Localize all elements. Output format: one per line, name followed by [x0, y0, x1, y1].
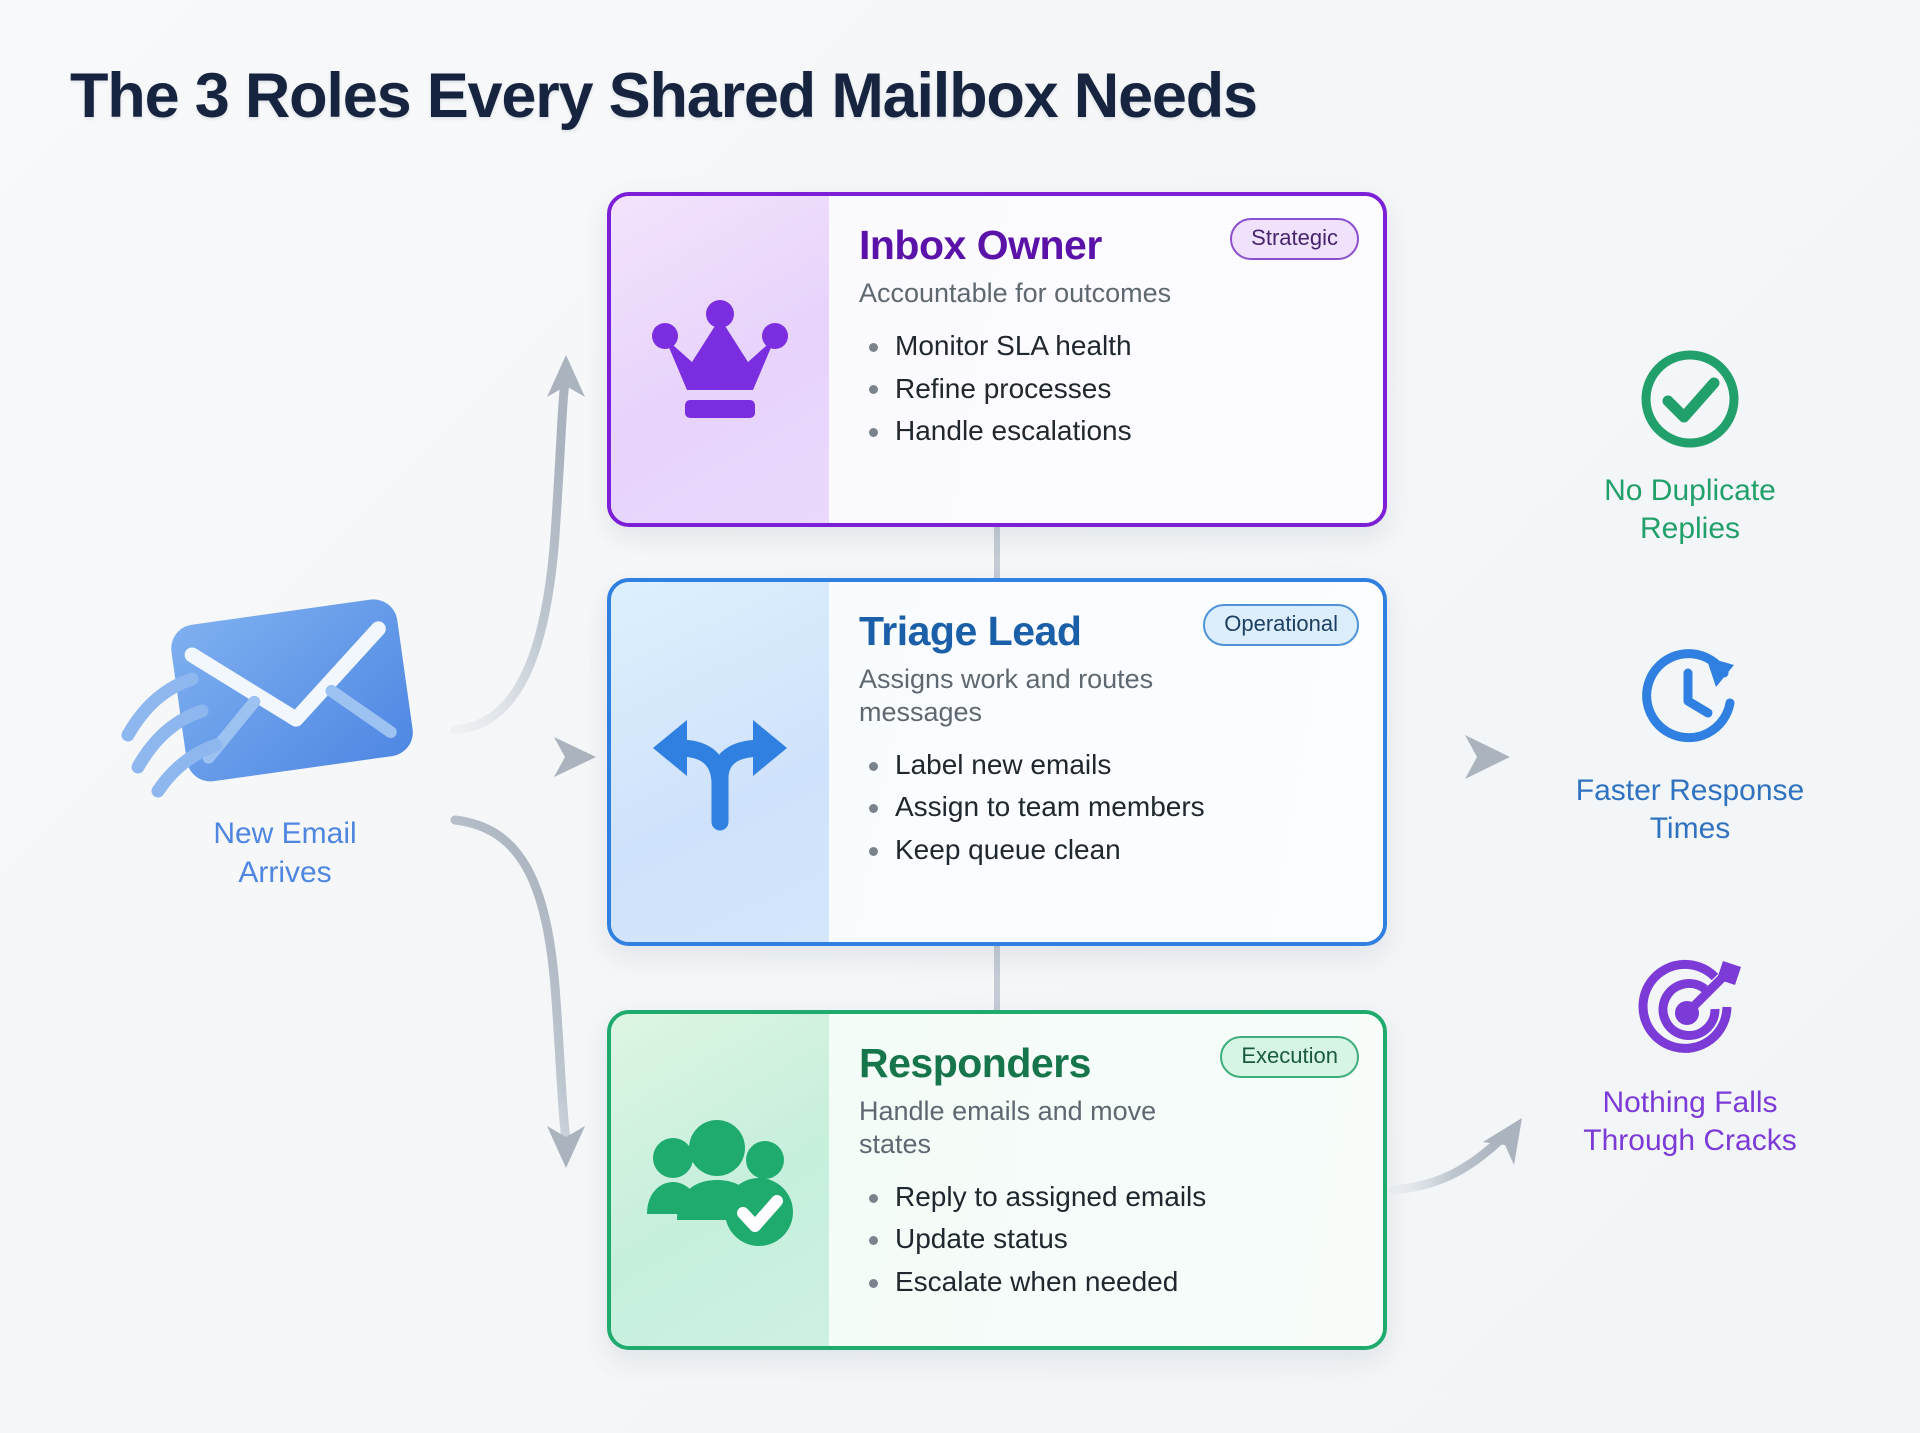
card-body: Operational Triage Lead Assigns work and… [829, 582, 1383, 942]
list-item: Keep queue clean [859, 832, 1349, 868]
envelope-icon [120, 595, 450, 800]
clock-arrow-icon [1525, 640, 1855, 758]
outcome-label-line1: No Duplicate [1525, 472, 1855, 510]
arrow-responders-to-outcome [1393, 1118, 1522, 1190]
outcome-nothing-falls-through-cracks: Nothing Falls Through Cracks [1525, 952, 1855, 1161]
outcome-label-line1: Nothing Falls [1525, 1084, 1855, 1122]
role-subtitle: Accountable for outcomes [859, 277, 1229, 310]
role-subtitle: Handle emails and move states [859, 1095, 1229, 1161]
infographic-canvas: The 3 Roles Every Shared Mailbox Needs [0, 0, 1920, 1433]
people-check-icon [611, 1014, 829, 1346]
list-item: Handle escalations [859, 413, 1349, 449]
list-item: Assign to team members [859, 789, 1349, 825]
source-label-line1: New Email [120, 814, 450, 853]
outcome-label: Faster Response Times [1525, 772, 1855, 849]
arrow-source-to-triage [455, 737, 596, 777]
outcome-label: Nothing Falls Through Cracks [1525, 1084, 1855, 1161]
outcome-label-line1: Faster Response [1525, 772, 1855, 810]
arrow-source-to-responders [455, 820, 585, 1168]
arrow-source-to-owner [455, 355, 585, 730]
card-body: Strategic Inbox Owner Accountable for ou… [829, 196, 1383, 523]
role-bullets: Monitor SLA health Refine processes Hand… [859, 328, 1349, 449]
role-card-inbox-owner[interactable]: Strategic Inbox Owner Accountable for ou… [607, 192, 1387, 527]
outcome-faster-response-times: Faster Response Times [1525, 640, 1855, 849]
role-bullets: Label new emails Assign to team members … [859, 747, 1349, 868]
role-bullets: Reply to assigned emails Update status E… [859, 1179, 1349, 1300]
page-title: The 3 Roles Every Shared Mailbox Needs [70, 60, 1257, 132]
status-badge: Strategic [1230, 218, 1359, 260]
role-subtitle: Assigns work and routes messages [859, 663, 1229, 729]
outcome-no-duplicate-replies: No Duplicate Replies [1525, 340, 1855, 549]
target-dart-icon [1525, 952, 1855, 1070]
list-item: Update status [859, 1221, 1349, 1257]
list-item: Monitor SLA health [859, 328, 1349, 364]
split-arrows-icon [611, 582, 829, 942]
source-label-line2: Arrives [120, 853, 450, 892]
outcome-label-line2: Through Cracks [1525, 1122, 1855, 1160]
outcome-label-line2: Times [1525, 810, 1855, 848]
role-card-triage-lead[interactable]: Operational Triage Lead Assigns work and… [607, 578, 1387, 946]
card-body: Execution Responders Handle emails and m… [829, 1014, 1383, 1346]
list-item: Escalate when needed [859, 1264, 1349, 1300]
outcome-label-line2: Replies [1525, 510, 1855, 548]
status-badge: Operational [1203, 604, 1359, 646]
arrow-triage-to-outcome [1393, 735, 1510, 779]
outcome-label: No Duplicate Replies [1525, 472, 1855, 549]
list-item: Refine processes [859, 371, 1349, 407]
source-node: New Email Arrives [120, 595, 450, 892]
status-badge: Execution [1220, 1036, 1359, 1078]
list-item: Label new emails [859, 747, 1349, 783]
role-card-responders[interactable]: Execution Responders Handle emails and m… [607, 1010, 1387, 1350]
list-item: Reply to assigned emails [859, 1179, 1349, 1215]
check-circle-icon [1525, 340, 1855, 458]
source-label: New Email Arrives [120, 814, 450, 892]
crown-icon [611, 196, 829, 523]
